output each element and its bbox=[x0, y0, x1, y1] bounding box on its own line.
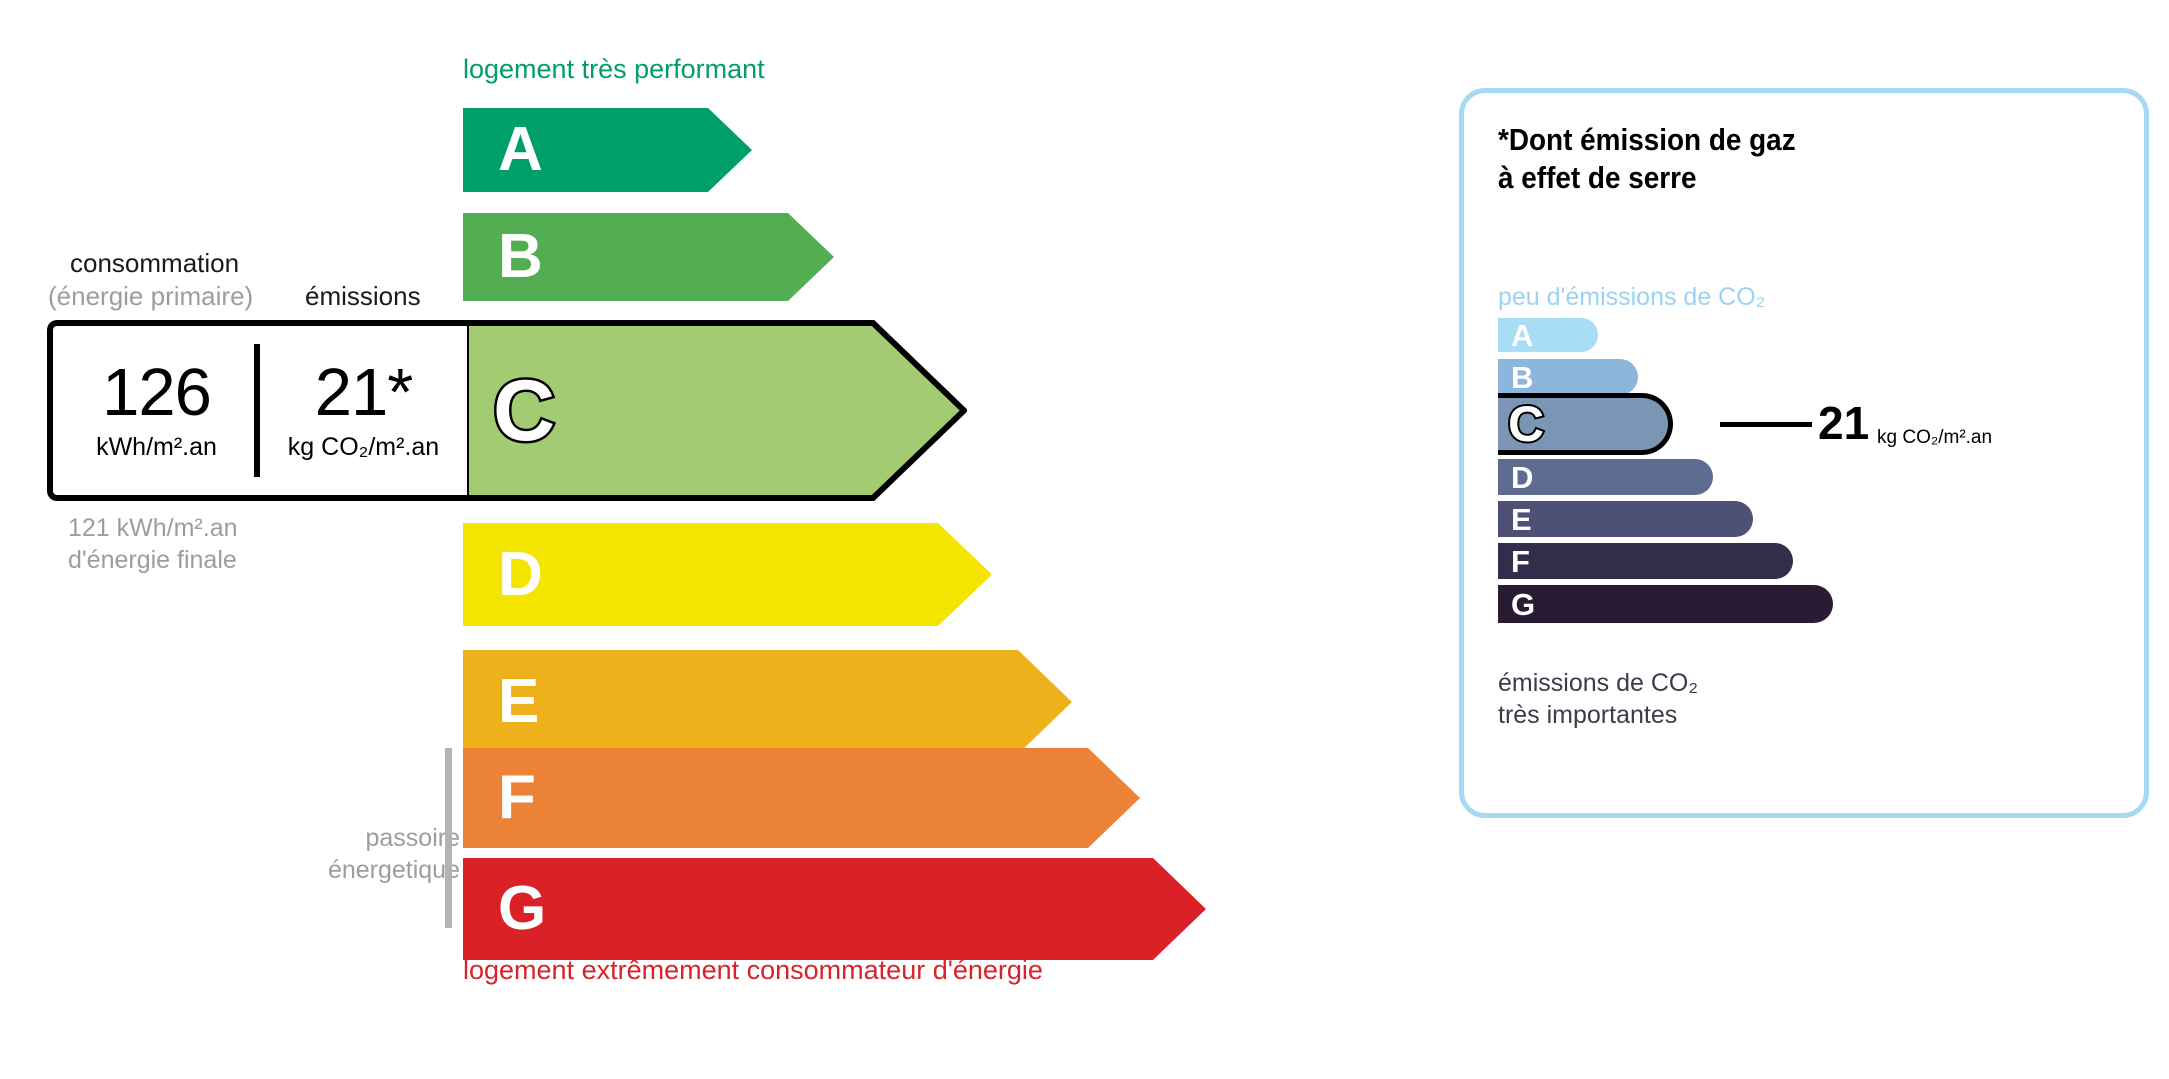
greenhouse-gas-panel: *Dont émission de gaz à effet de serre p… bbox=[1459, 88, 2149, 818]
energy-bar-e: E bbox=[463, 650, 1072, 754]
final-energy-note: 121 kWh/m².an d'énergie finale bbox=[68, 512, 238, 576]
ges-value: 21 bbox=[1818, 400, 1869, 446]
energy-bar-letter-b: B bbox=[498, 226, 543, 288]
energy-bar-f: F bbox=[463, 748, 1140, 848]
energy-bar-shape-g bbox=[463, 858, 1206, 960]
ges-bar-letter-a: A bbox=[1511, 320, 1533, 351]
consumption-cell: 126 kWh/m².an bbox=[53, 326, 260, 495]
ges-bar-f: F bbox=[1498, 543, 1793, 579]
ges-bar-e: E bbox=[1498, 501, 1753, 537]
ges-connector-line bbox=[1720, 422, 1812, 427]
energy-bar-d: D bbox=[463, 523, 992, 626]
consumption-header: consommation bbox=[70, 248, 239, 279]
energy-bar-letter-c: C bbox=[493, 368, 555, 454]
energy-bar-letter-a: A bbox=[498, 119, 543, 181]
scale-bottom-caption: logement extrêmement consommateur d'éner… bbox=[463, 955, 1043, 986]
energy-bar-letter-g: G bbox=[498, 878, 546, 940]
ges-bar-letter-f: F bbox=[1511, 546, 1530, 577]
ges-bar-g: G bbox=[1498, 585, 1833, 623]
energy-bar-shape-e bbox=[463, 650, 1072, 754]
ges-panel-title: *Dont émission de gaz à effet de serre bbox=[1498, 121, 1796, 198]
energy-bar-letter-e: E bbox=[498, 671, 539, 733]
energy-bar-g: G bbox=[463, 858, 1206, 960]
energy-bar-letter-d: D bbox=[498, 544, 543, 606]
ges-bar-c: C bbox=[1498, 393, 1673, 455]
passoire-bracket-line bbox=[445, 748, 452, 928]
emissions-cell: 21* kg CO₂/m².an bbox=[260, 326, 467, 495]
ges-bar-letter-d: D bbox=[1511, 462, 1533, 493]
dpe-diagram: logement très performant consommation (é… bbox=[0, 0, 2169, 1079]
energy-bar-a: A bbox=[463, 108, 752, 192]
passoire-energetique-label: passoire énergetique bbox=[270, 822, 460, 886]
ges-bar-b: B bbox=[1498, 359, 1638, 395]
consumption-value: 126 bbox=[102, 359, 211, 426]
consumption-unit: kWh/m².an bbox=[96, 433, 217, 462]
ges-value-unit: kg CO₂/m².an bbox=[1877, 427, 1992, 449]
energy-bar-b: B bbox=[463, 213, 834, 301]
energy-performance-scale: logement très performant consommation (é… bbox=[0, 0, 1400, 1079]
ges-bar-letter-b: B bbox=[1511, 362, 1533, 393]
ges-bar-letter-g: G bbox=[1511, 589, 1535, 620]
ges-bottom-caption: émissions de CO₂ très importantes bbox=[1498, 668, 1698, 731]
energy-bar-c: C bbox=[463, 320, 967, 501]
scale-top-caption: logement très performant bbox=[463, 54, 765, 85]
ges-bar-letter-c: C bbox=[1508, 399, 1544, 449]
emissions-header: émissions bbox=[305, 281, 421, 312]
emissions-value: 21* bbox=[315, 359, 413, 426]
energy-bar-letter-f: F bbox=[498, 767, 536, 829]
ges-bar-a: A bbox=[1498, 318, 1598, 352]
consumption-subheader: (énergie primaire) bbox=[48, 281, 253, 312]
ges-bar-d: D bbox=[1498, 459, 1713, 495]
energy-bar-shape-f bbox=[463, 748, 1140, 848]
ges-top-caption: peu d'émissions de CO₂ bbox=[1498, 283, 1765, 312]
ges-bar-letter-e: E bbox=[1511, 504, 1532, 535]
emissions-unit: kg CO₂/m².an bbox=[288, 433, 439, 462]
value-box: 126 kWh/m².an 21* kg CO₂/m².an bbox=[47, 320, 467, 501]
